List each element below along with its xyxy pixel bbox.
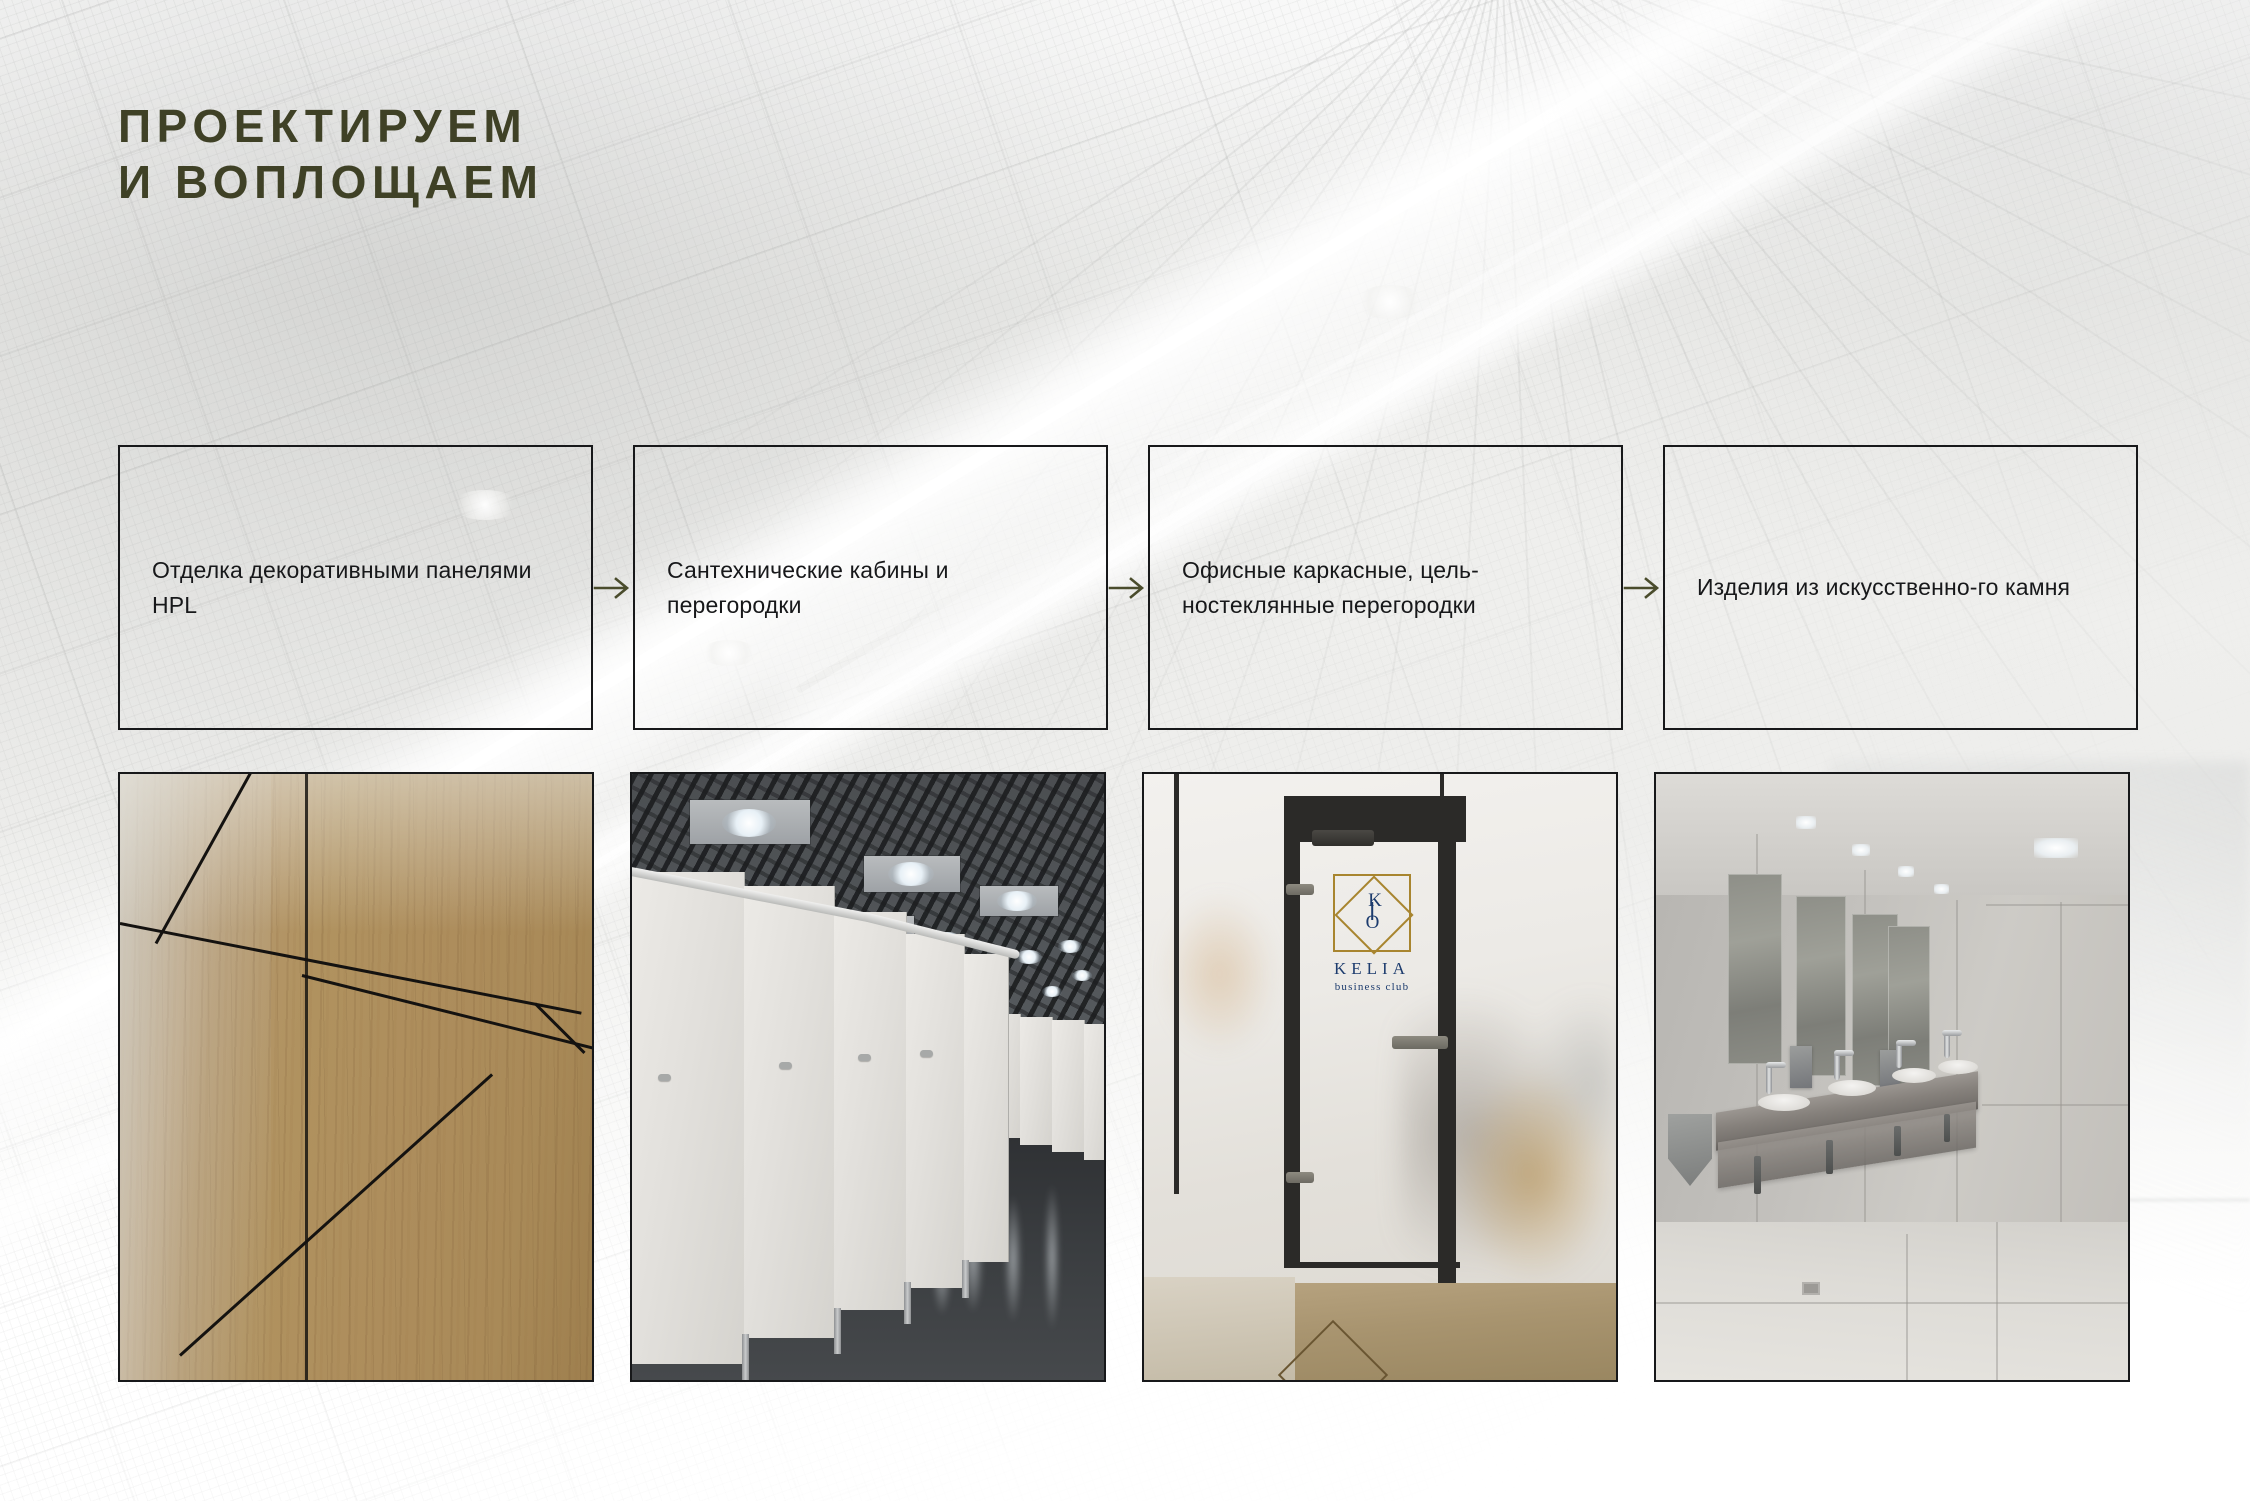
logo-brand-name: KELIA <box>1322 959 1422 979</box>
arrow-right-icon <box>1108 445 1148 730</box>
drain-pipe <box>1826 1140 1833 1174</box>
door-handle-top <box>1286 884 1314 895</box>
ceiling-lamp <box>888 862 934 886</box>
faucet-spout <box>1896 1040 1916 1046</box>
drain-pipe <box>1894 1126 1901 1156</box>
logo-brand-subtitle: business club <box>1322 981 1422 993</box>
blurred-reflection-left <box>1163 895 1276 1053</box>
faucet-spout <box>1942 1030 1962 1036</box>
wall-tile-joint <box>1982 1104 2130 1106</box>
photo-sanitary-cubicles[interactable] <box>630 772 1106 1382</box>
photo-hpl-wood-panel[interactable] <box>118 772 594 1382</box>
cubicle-door <box>744 886 835 1338</box>
arrow-right-icon <box>593 445 633 730</box>
photo-restroom-stone-counter[interactable] <box>1654 772 2130 1382</box>
ceiling-downlight <box>1898 866 1914 877</box>
lobby-floor-stone <box>1144 1277 1295 1380</box>
door-frame-left <box>1284 796 1300 1266</box>
cubicle-door <box>906 934 965 1288</box>
cubicle-lock-knob <box>658 1074 671 1081</box>
cubicle-support-leg <box>904 1282 911 1324</box>
floor-drain <box>1802 1282 1820 1295</box>
washbasin <box>1938 1060 1978 1074</box>
ceiling-lamp <box>1072 970 1092 981</box>
door-threshold <box>1284 1262 1460 1268</box>
cubicle-support-leg <box>742 1334 749 1382</box>
ceiling-lamp <box>722 809 776 837</box>
ceiling-lamp <box>1058 940 1082 953</box>
title-line-2: И ВОПЛОЩАЕМ <box>118 154 544 210</box>
cubicle-panel-far <box>1020 1017 1053 1145</box>
logo-square-outline: K O <box>1333 874 1411 952</box>
cubicle-lock-knob <box>779 1062 792 1069</box>
restroom-ceiling <box>1656 774 2128 895</box>
faucet-spout <box>1834 1050 1854 1056</box>
floor-tile-joint <box>1656 1302 2130 1304</box>
floor-reflection <box>1044 1182 1060 1332</box>
service-card-3[interactable]: Офисные каркасные, цель-ностеклянные пер… <box>1148 445 1623 730</box>
faucet <box>1766 1064 1772 1094</box>
washbasin <box>1828 1080 1876 1096</box>
slide-title: ПРОЕКТИРУЕМ И ВОПЛОЩАЕМ <box>118 98 544 210</box>
cubicle-panel-far <box>1084 1024 1106 1160</box>
partition-mullion <box>1174 774 1179 1194</box>
service-card-4-label: Изделия из искусственно-го камня <box>1697 570 2070 605</box>
cubicle-door <box>632 872 745 1364</box>
door-closer <box>1312 830 1374 846</box>
ceiling-downlight <box>1934 884 1949 894</box>
faucet <box>1834 1052 1840 1080</box>
logo-letter-o: O <box>1366 912 1380 934</box>
cubicle-support-leg <box>962 1260 969 1298</box>
service-card-2[interactable]: Сантехнические кабины и перегородки <box>633 445 1108 730</box>
ceiling-downlight <box>1796 816 1816 829</box>
cubicle-panel-far <box>1052 1020 1085 1152</box>
ceiling-fixture <box>1355 285 1425 319</box>
floor-tile-joint <box>1996 1222 1998 1380</box>
ceiling-downlight <box>1852 844 1870 856</box>
arrow-right-icon <box>1623 445 1663 730</box>
drain-pipe <box>1754 1156 1761 1194</box>
cubicle-lock-knob <box>920 1050 933 1057</box>
wood-panel-top-sheen <box>120 774 592 932</box>
cubicle-door <box>834 912 907 1310</box>
kelia-logo: K O KELIA business club <box>1322 874 1422 993</box>
ceiling-lamp <box>1016 950 1042 964</box>
washbasin <box>1892 1068 1936 1083</box>
door-lever-handle <box>1392 1036 1448 1049</box>
restroom-mirror <box>1728 874 1782 1064</box>
service-card-2-label: Сантехнические кабины и перегородки <box>667 553 1074 623</box>
project-photo-row: K O KELIA business club <box>118 772 2130 1382</box>
presentation-slide: ПРОЕКТИРУЕМ И ВОПЛОЩАЕМ Отделка декорати… <box>0 0 2250 1501</box>
drain-pipe <box>1944 1114 1950 1142</box>
cubicle-support-leg <box>834 1308 841 1354</box>
faucet-spout <box>1766 1062 1786 1068</box>
title-line-1: ПРОЕКТИРУЕМ <box>118 98 544 154</box>
cubicle-door <box>964 954 1009 1262</box>
ceiling-panel-light <box>2034 838 2078 858</box>
service-card-1[interactable]: Отделка декоративными панелями HPL <box>118 445 593 730</box>
blurred-reflection-right <box>1399 980 1616 1319</box>
door-handle-bottom <box>1286 1172 1314 1183</box>
service-steps-row: Отделка декоративными панелями HPL Санте… <box>118 445 2130 730</box>
service-card-4[interactable]: Изделия из искусственно-го камня <box>1663 445 2138 730</box>
ceiling-lamp <box>997 891 1037 911</box>
panel-vertical-joint <box>305 774 308 1380</box>
ceiling-lamp <box>1042 986 1062 997</box>
service-card-3-label: Офисные каркасные, цель-ностеклянные пер… <box>1182 553 1589 623</box>
floor-tile-joint <box>1906 1234 1908 1380</box>
service-card-1-label: Отделка декоративными панелями HPL <box>152 553 559 623</box>
logo-letter-k: K <box>1368 890 1382 912</box>
wall-tile-joint <box>1986 904 2130 906</box>
cubicle-lock-knob <box>858 1054 871 1061</box>
soap-dispenser <box>1790 1046 1812 1088</box>
photo-glass-door-kelia[interactable]: K O KELIA business club <box>1142 772 1618 1382</box>
washbasin <box>1758 1094 1810 1111</box>
